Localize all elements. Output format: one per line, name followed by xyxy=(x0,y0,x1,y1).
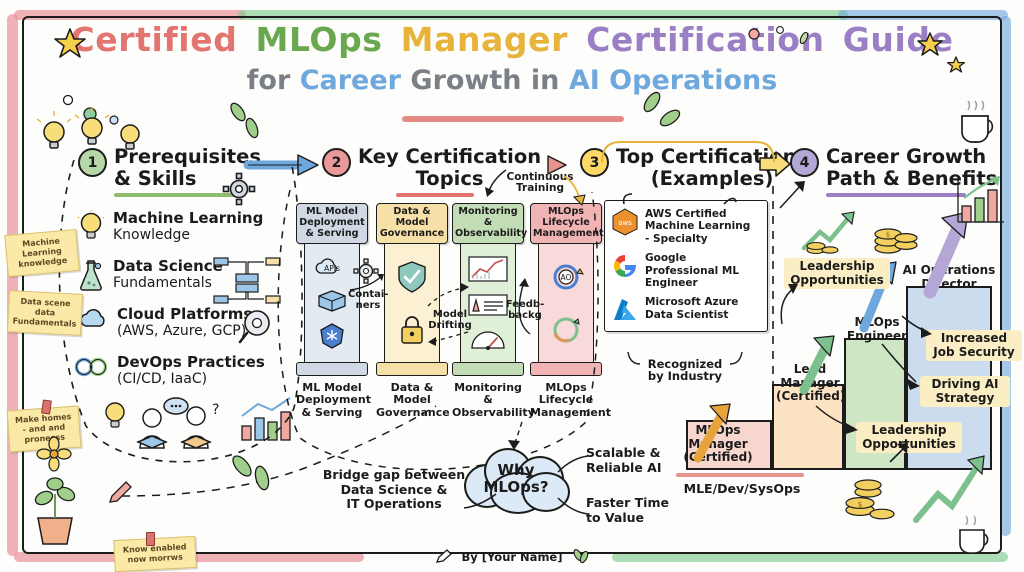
pillar-2-name-l2: Observability xyxy=(452,407,524,420)
prerequisite-label-0: Machine Learning Knowledge xyxy=(113,210,263,244)
step-0-l3: (Certified) xyxy=(670,451,766,465)
title-line-2: for Career Growth in AI Operations xyxy=(0,65,1024,96)
cert-0-l3: - Specialty xyxy=(645,233,750,245)
pillar-1-cap-l3: Governance xyxy=(379,229,445,240)
sticky-1-l3: Fundamentals xyxy=(12,316,76,329)
section-4-badge: 4 xyxy=(790,148,819,177)
callout-driving-ai: Driving AI Strategy xyxy=(920,376,1010,407)
prereq-0-line1: Machine Learning xyxy=(113,209,263,227)
pen-icon xyxy=(435,548,453,564)
career-step-4-label: AI Operations Director xyxy=(900,264,998,291)
connector-model-drifting: Model Drifting xyxy=(427,310,473,332)
pillar-1-name-l3: Governance xyxy=(376,407,448,420)
why-right-top-l2: Reliable AI xyxy=(586,461,662,476)
prerequisite-item-2: Cloud Platforms (AWS, Azure, GCP) xyxy=(78,306,252,340)
connector-feedback-l2: backg xyxy=(505,311,545,322)
callout-3-l2: Strategy xyxy=(925,392,1005,406)
career-base-label: MLE/Dev/SysOps xyxy=(676,482,808,496)
pillar-3-shaft: AO xyxy=(538,244,594,362)
title-word-for: for xyxy=(247,65,291,96)
certification-row-google: Google Professional ML Engineer xyxy=(611,252,761,289)
prerequisite-label-2: Cloud Platforms (AWS, Azure, GCP) xyxy=(117,306,252,340)
pillar-1-base xyxy=(376,362,448,376)
callout-leadership-top: Leadership Opportunities xyxy=(784,258,890,289)
why-branch-right-bottom: Faster Time to Value xyxy=(586,496,669,525)
section-4-title-line1: Career Growth xyxy=(826,146,997,168)
alert-triangle-icon xyxy=(467,293,509,317)
step-3-l2: Director xyxy=(900,278,998,292)
gauge-icon xyxy=(468,327,508,351)
sticky-note-1: Data scene data Fundamentals xyxy=(7,290,83,336)
section-2-title-line1: Key Certification xyxy=(358,146,541,168)
google-logo-icon xyxy=(611,252,639,280)
continuous-training-l2: Training xyxy=(503,183,577,194)
title-word-operations: Operations xyxy=(609,65,777,96)
why-left-l3: IT Operations xyxy=(318,497,470,512)
callout-job-security: Increased Job Security xyxy=(926,330,1022,361)
pillar-3-base xyxy=(530,362,602,376)
cert-2-l2: Data Scientist xyxy=(645,309,738,321)
title-word-growth: Growth xyxy=(410,65,521,96)
prerequisite-label-1: Data Science Fundamentals xyxy=(113,258,223,292)
label-recognized-by-industry: Recognized by Industry xyxy=(632,358,738,383)
connector-feedback: Feedb- backg xyxy=(505,300,545,322)
step-0-l2: Manager xyxy=(670,438,766,452)
cloud-icon xyxy=(78,306,108,332)
cert-1-l2: Professional ML xyxy=(645,265,739,277)
section-1-badge: 1 xyxy=(78,148,107,177)
recognized-l2: by Industry xyxy=(632,370,738,382)
pillar-3-name-l2: Lifecycle xyxy=(530,394,602,407)
connector-containers: Contai- ners xyxy=(348,290,388,312)
step-2-l1: MLOps xyxy=(846,316,908,330)
certification-row-azure: Microsoft Azure Data Scientist xyxy=(611,296,761,324)
why-mlops-cloud: Why MLOps? xyxy=(460,446,572,512)
why-right-bot-l1: Faster Time xyxy=(586,496,669,511)
flask-icon xyxy=(78,258,104,292)
why-right-bot-l2: to Value xyxy=(586,511,669,526)
container-box-icon xyxy=(315,288,349,312)
pillar-2-name: Monitoring & Observability xyxy=(452,382,524,420)
title-word-certified: Certified xyxy=(70,20,237,59)
infographic-canvas: Certified MLOps Manager Certification Gu… xyxy=(0,0,1024,572)
section-3-badge: 3 xyxy=(580,148,609,177)
cert-0-l1: AWS Certified xyxy=(645,208,750,220)
section-4-title-line2: Path & Benefits xyxy=(826,168,997,190)
section-1-header: 1 Prerequisites & Skills xyxy=(78,146,261,197)
why-branch-right-top: Scalable & Reliable AI xyxy=(586,446,662,475)
prerequisite-label-3: DevOps Practices (CI/CD, IaaC) xyxy=(117,354,265,388)
why-left-l1: Bridge gap between xyxy=(318,468,470,483)
azure-logo-icon xyxy=(611,296,639,324)
callout-0-l1: Leadership xyxy=(789,260,885,274)
prereq-3-line2: (CI/CD, IaaC) xyxy=(117,371,265,387)
title-word-certification: Certification xyxy=(586,20,825,59)
career-step-1-label: MLOps Manager (Certified) xyxy=(670,424,766,465)
sticky-pin xyxy=(41,399,52,414)
step-1-l1: Lead xyxy=(776,363,844,377)
callout-0-l2: Opportunities xyxy=(789,274,885,288)
callout-leadership-bottom: Leadership Opportunities xyxy=(856,422,962,453)
pillar-2-cap-l2: Observability xyxy=(455,229,521,240)
pillar-1-cap: Data & Model Governance xyxy=(376,203,448,244)
prereq-2-line1: Cloud Platforms xyxy=(117,305,252,323)
certification-aws-text: AWS Certified Machine Learning - Special… xyxy=(645,208,750,245)
pillar-3-cap-l3: Management xyxy=(533,229,599,240)
line-chart-icon xyxy=(467,255,509,283)
footer-byline: By [Your Name] xyxy=(0,548,1024,564)
cert-2-l1: Microsoft Azure xyxy=(645,296,738,308)
svg-text:APIs: APIs xyxy=(324,264,340,273)
step-1-l2: Manager xyxy=(776,377,844,391)
certification-row-aws: aws AWS Certified Machine Learning - Spe… xyxy=(611,208,761,245)
aws-logo-icon: aws xyxy=(611,208,639,236)
connector-containers-l2: ners xyxy=(348,301,388,312)
career-step-2-label: Lead Manager (Certified) xyxy=(776,363,844,404)
byline-text: By [Your Name] xyxy=(462,550,563,564)
pillar-2-cap: Monitoring & Observability xyxy=(452,203,524,244)
step-2-l2: Engineer xyxy=(846,330,908,344)
why-right-top-l1: Scalable & xyxy=(586,446,662,461)
pillar-0-cap: ML Model Deployment & Serving xyxy=(296,203,368,244)
certification-google-text: Google Professional ML Engineer xyxy=(645,252,739,289)
kubernetes-icon xyxy=(317,322,347,350)
prereq-1-line1: Data Science xyxy=(113,257,223,275)
prerequisite-item-3: DevOps Practices (CI/CD, IaaC) xyxy=(74,354,265,388)
ao-cycle-icon: AO xyxy=(544,260,588,294)
callout-1-l2: Opportunities xyxy=(861,438,957,452)
step-1-l3: (Certified) xyxy=(776,390,844,404)
certification-azure-text: Microsoft Azure Data Scientist xyxy=(645,296,738,321)
title-word-in: in xyxy=(531,65,559,96)
apis-cloud-icon: APIs xyxy=(312,255,352,277)
pillar-1-name-l2: Model xyxy=(376,394,448,407)
title-word-career: Career xyxy=(300,65,401,96)
why-branch-left: Bridge gap between Data Science & IT Ope… xyxy=(318,468,470,512)
title-word-manager: Manager xyxy=(401,20,568,59)
why-left-l2: Data Science & xyxy=(318,483,470,498)
sticky-pin xyxy=(146,532,155,546)
connector-drift-l2: Drifting xyxy=(427,321,473,332)
pillar-1-name: Data & Model Governance xyxy=(376,382,448,420)
pillar-3-cap: MLOps Lifecycle Management xyxy=(530,203,602,244)
recycle-cycle-icon xyxy=(544,314,588,346)
pillar-1-shaft xyxy=(384,244,440,362)
why-title-l2: MLOps? xyxy=(460,479,572,496)
section-4-rule xyxy=(826,193,966,197)
prereq-1-line2: Fundamentals xyxy=(113,275,223,291)
pillar-0-base xyxy=(296,362,368,376)
prereq-2-line2: (AWS, Azure, GCP) xyxy=(117,323,252,339)
prerequisite-item-0: Machine Learning Knowledge xyxy=(78,210,263,244)
pillar-2-cap-l1: Monitoring & xyxy=(455,207,521,229)
cert-0-l2: Machine Learning xyxy=(645,220,750,232)
section-1-rule xyxy=(114,193,239,197)
pillar-0-name-l2: Deployment xyxy=(296,394,368,407)
pillar-3-name-l3: Management xyxy=(530,407,602,420)
pillar-0-cap-l3: & Serving xyxy=(299,229,365,240)
cert-1-l1: Google xyxy=(645,252,739,264)
callout-2-l2: Job Security xyxy=(931,346,1017,360)
page-title: Certified MLOps Manager Certification Gu… xyxy=(0,22,1024,96)
title-underline xyxy=(402,116,624,122)
section-3-header: 3 Top Certifications (Examples) xyxy=(580,146,808,190)
sticky-note-0: Machine Learning knowledge xyxy=(4,229,79,277)
why-mlops-text: Why MLOps? xyxy=(460,462,572,496)
infinity-devops-icon xyxy=(74,354,108,380)
padlock-icon xyxy=(398,314,426,346)
title-word-ai: AI xyxy=(569,65,600,96)
section-2-rule xyxy=(396,193,474,197)
title-word-guide: Guide xyxy=(843,20,954,59)
section-4-header: 4 Career Growth Path & Benefits xyxy=(790,146,997,197)
prereq-0-line2: Knowledge xyxy=(113,227,263,243)
callout-2-l1: Increased xyxy=(931,332,1017,346)
prerequisite-item-1: Data Science Fundamentals xyxy=(78,258,223,292)
why-title-l1: Why xyxy=(460,462,572,479)
pillar-2-base xyxy=(452,362,524,376)
certifications-card: aws AWS Certified Machine Learning - Spe… xyxy=(604,200,768,332)
cert-1-l3: Engineer xyxy=(645,277,739,289)
pillar-3-name: MLOps Lifecycle Management xyxy=(530,382,602,420)
pillar-0-name: ML Model Deployment & Serving xyxy=(296,382,368,420)
step-0-l1: MLOps xyxy=(670,424,766,438)
title-word-mlops: MLOps xyxy=(256,20,383,59)
section-1-title-line1: Prerequisites xyxy=(114,146,261,168)
title-line-1: Certified MLOps Manager Certification Gu… xyxy=(0,22,1024,59)
svg-text:aws: aws xyxy=(618,219,632,227)
shield-check-icon xyxy=(396,260,428,294)
label-continuous-training: Continuous Training xyxy=(503,172,577,195)
section-3-title-line2: (Examples) xyxy=(616,168,808,190)
callout-3-l1: Driving AI xyxy=(925,378,1005,392)
lightbulb-icon xyxy=(78,210,104,242)
step-3-l1: AI Operations xyxy=(900,264,998,278)
callout-1-l1: Leadership xyxy=(861,424,957,438)
pillar-0-name-l3: & Serving xyxy=(296,407,368,420)
pillar-2-name-l1: Monitoring & xyxy=(452,382,524,407)
svg-text:AO: AO xyxy=(561,273,572,282)
leaf-icon xyxy=(571,548,589,564)
section-1-title-line2: & Skills xyxy=(114,168,261,190)
prereq-3-line1: DevOps Practices xyxy=(117,353,265,371)
career-step-3-label: MLOps Engineer xyxy=(846,316,908,343)
section-3-title-line1: Top Certifications xyxy=(616,146,808,168)
section-2-badge: 2 xyxy=(322,148,351,177)
